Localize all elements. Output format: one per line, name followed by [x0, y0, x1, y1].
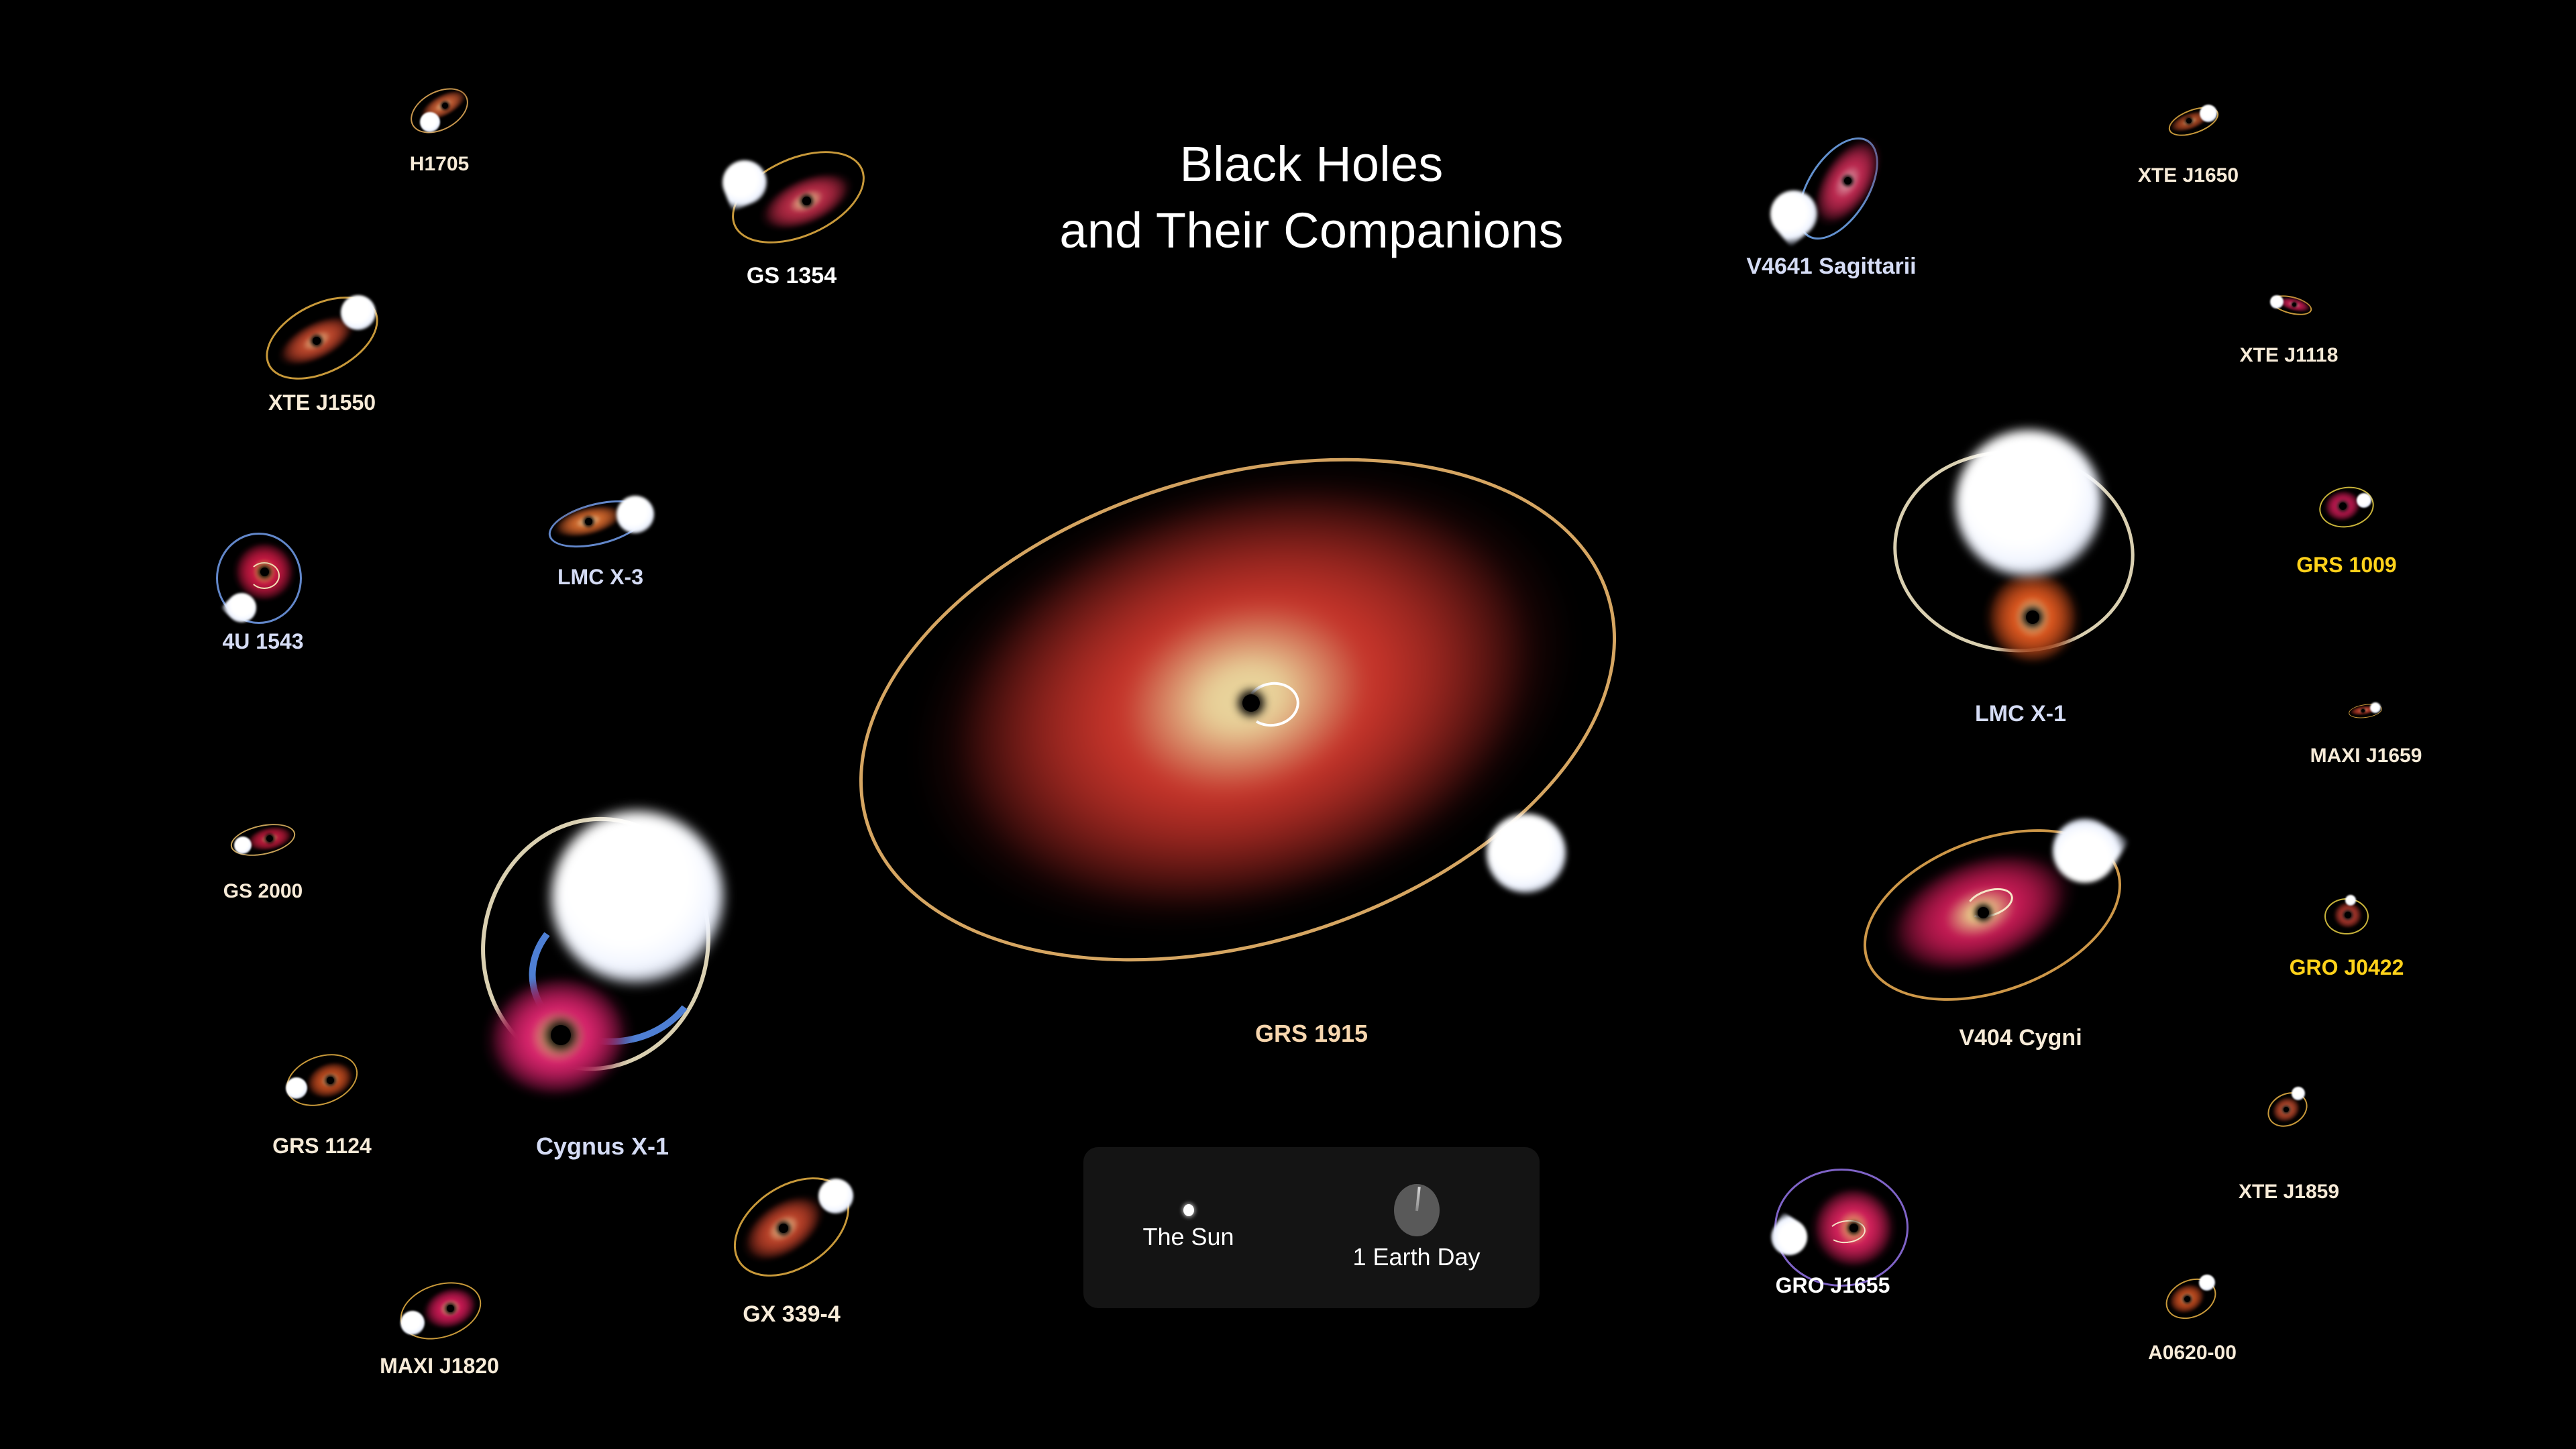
system-label: GRO J1655	[1776, 1273, 1890, 1298]
black-hole	[1242, 694, 1260, 712]
system-label: GRS 1915	[1255, 1020, 1368, 1048]
scale-legend: The Sun 1 Earth Day	[1083, 1147, 1540, 1308]
black-hole	[585, 518, 592, 525]
black-hole	[2186, 118, 2192, 123]
black-hole	[779, 1224, 788, 1233]
companion-star	[341, 295, 376, 330]
system-label: 4U 1543	[223, 629, 304, 654]
black-hole	[1978, 907, 1989, 918]
black-hole	[313, 337, 321, 345]
black-hole	[260, 568, 269, 576]
system-label: MAXI J1659	[2310, 745, 2422, 767]
companion-star	[234, 837, 252, 854]
companion-star	[2357, 493, 2371, 508]
companion-star	[2270, 295, 2284, 309]
black-hole	[2345, 912, 2351, 918]
system-label: GS 2000	[223, 880, 303, 903]
black-hole	[266, 835, 273, 842]
companion-star	[2199, 1275, 2215, 1291]
black-hole	[327, 1077, 334, 1084]
system-label: MAXI J1820	[380, 1354, 499, 1379]
black-hole	[2284, 1107, 2289, 1112]
diagram-canvas: Black Holes and Their Companions H1705GS…	[0, 0, 2576, 1449]
system-label: LMC X-3	[557, 565, 643, 590]
black-hole	[447, 1305, 454, 1312]
black-hole	[2339, 502, 2347, 510]
system-label: XTE J1859	[2239, 1181, 2339, 1203]
companion-star	[2345, 895, 2356, 906]
system-label: XTE J1550	[268, 390, 376, 415]
black-hole	[1844, 177, 1851, 184]
companion-star	[2200, 105, 2217, 122]
companion-star	[2292, 1087, 2305, 1100]
black-hole	[551, 1025, 571, 1045]
system-label: Cygnus X-1	[536, 1132, 669, 1161]
companion-star	[2370, 702, 2381, 713]
black-hole	[2292, 303, 2296, 307]
companion-star	[1487, 814, 1566, 893]
system-label: GRS 1124	[272, 1134, 372, 1159]
system-label: V4641 Sagittarii	[1746, 254, 1916, 280]
black-hole	[2184, 1296, 2190, 1302]
companion-star	[400, 1311, 425, 1335]
black-hole	[2361, 709, 2365, 712]
system-label: XTE J1118	[2240, 344, 2339, 367]
black-hole	[1849, 1224, 1858, 1232]
system-label: A0620-00	[2148, 1342, 2237, 1364]
black-hole	[2026, 610, 2039, 624]
legend-label-earth-day: 1 Earth Day	[1352, 1243, 1480, 1271]
system-label: GX 339-4	[743, 1301, 841, 1328]
black-hole	[802, 197, 811, 205]
companion-star	[1955, 430, 2102, 576]
system-label: H1705	[410, 153, 469, 176]
system-label: LMC X-1	[1975, 701, 2066, 727]
companion-star	[616, 496, 654, 533]
legend-item-sun: The Sun	[1142, 1204, 1234, 1251]
legend-item-earth-day: 1 Earth Day	[1352, 1184, 1480, 1271]
system-label: GRS 1009	[2296, 553, 2396, 578]
system-label: GRO J0422	[2290, 955, 2404, 980]
black-hole	[442, 103, 448, 109]
earth-day-pie-icon	[1394, 1184, 1440, 1236]
sun-dot-icon	[1183, 1204, 1194, 1216]
companion-star	[551, 811, 723, 983]
system-label: GS 1354	[747, 263, 837, 289]
system-label: V404 Cygni	[1959, 1025, 2082, 1051]
system-label: XTE J1650	[2138, 164, 2239, 187]
companion-star	[286, 1077, 307, 1099]
companion-star	[818, 1179, 853, 1214]
companion-star	[420, 112, 440, 132]
page-title: Black Holes and Their Companions	[842, 131, 1781, 264]
legend-label-sun: The Sun	[1142, 1223, 1234, 1251]
